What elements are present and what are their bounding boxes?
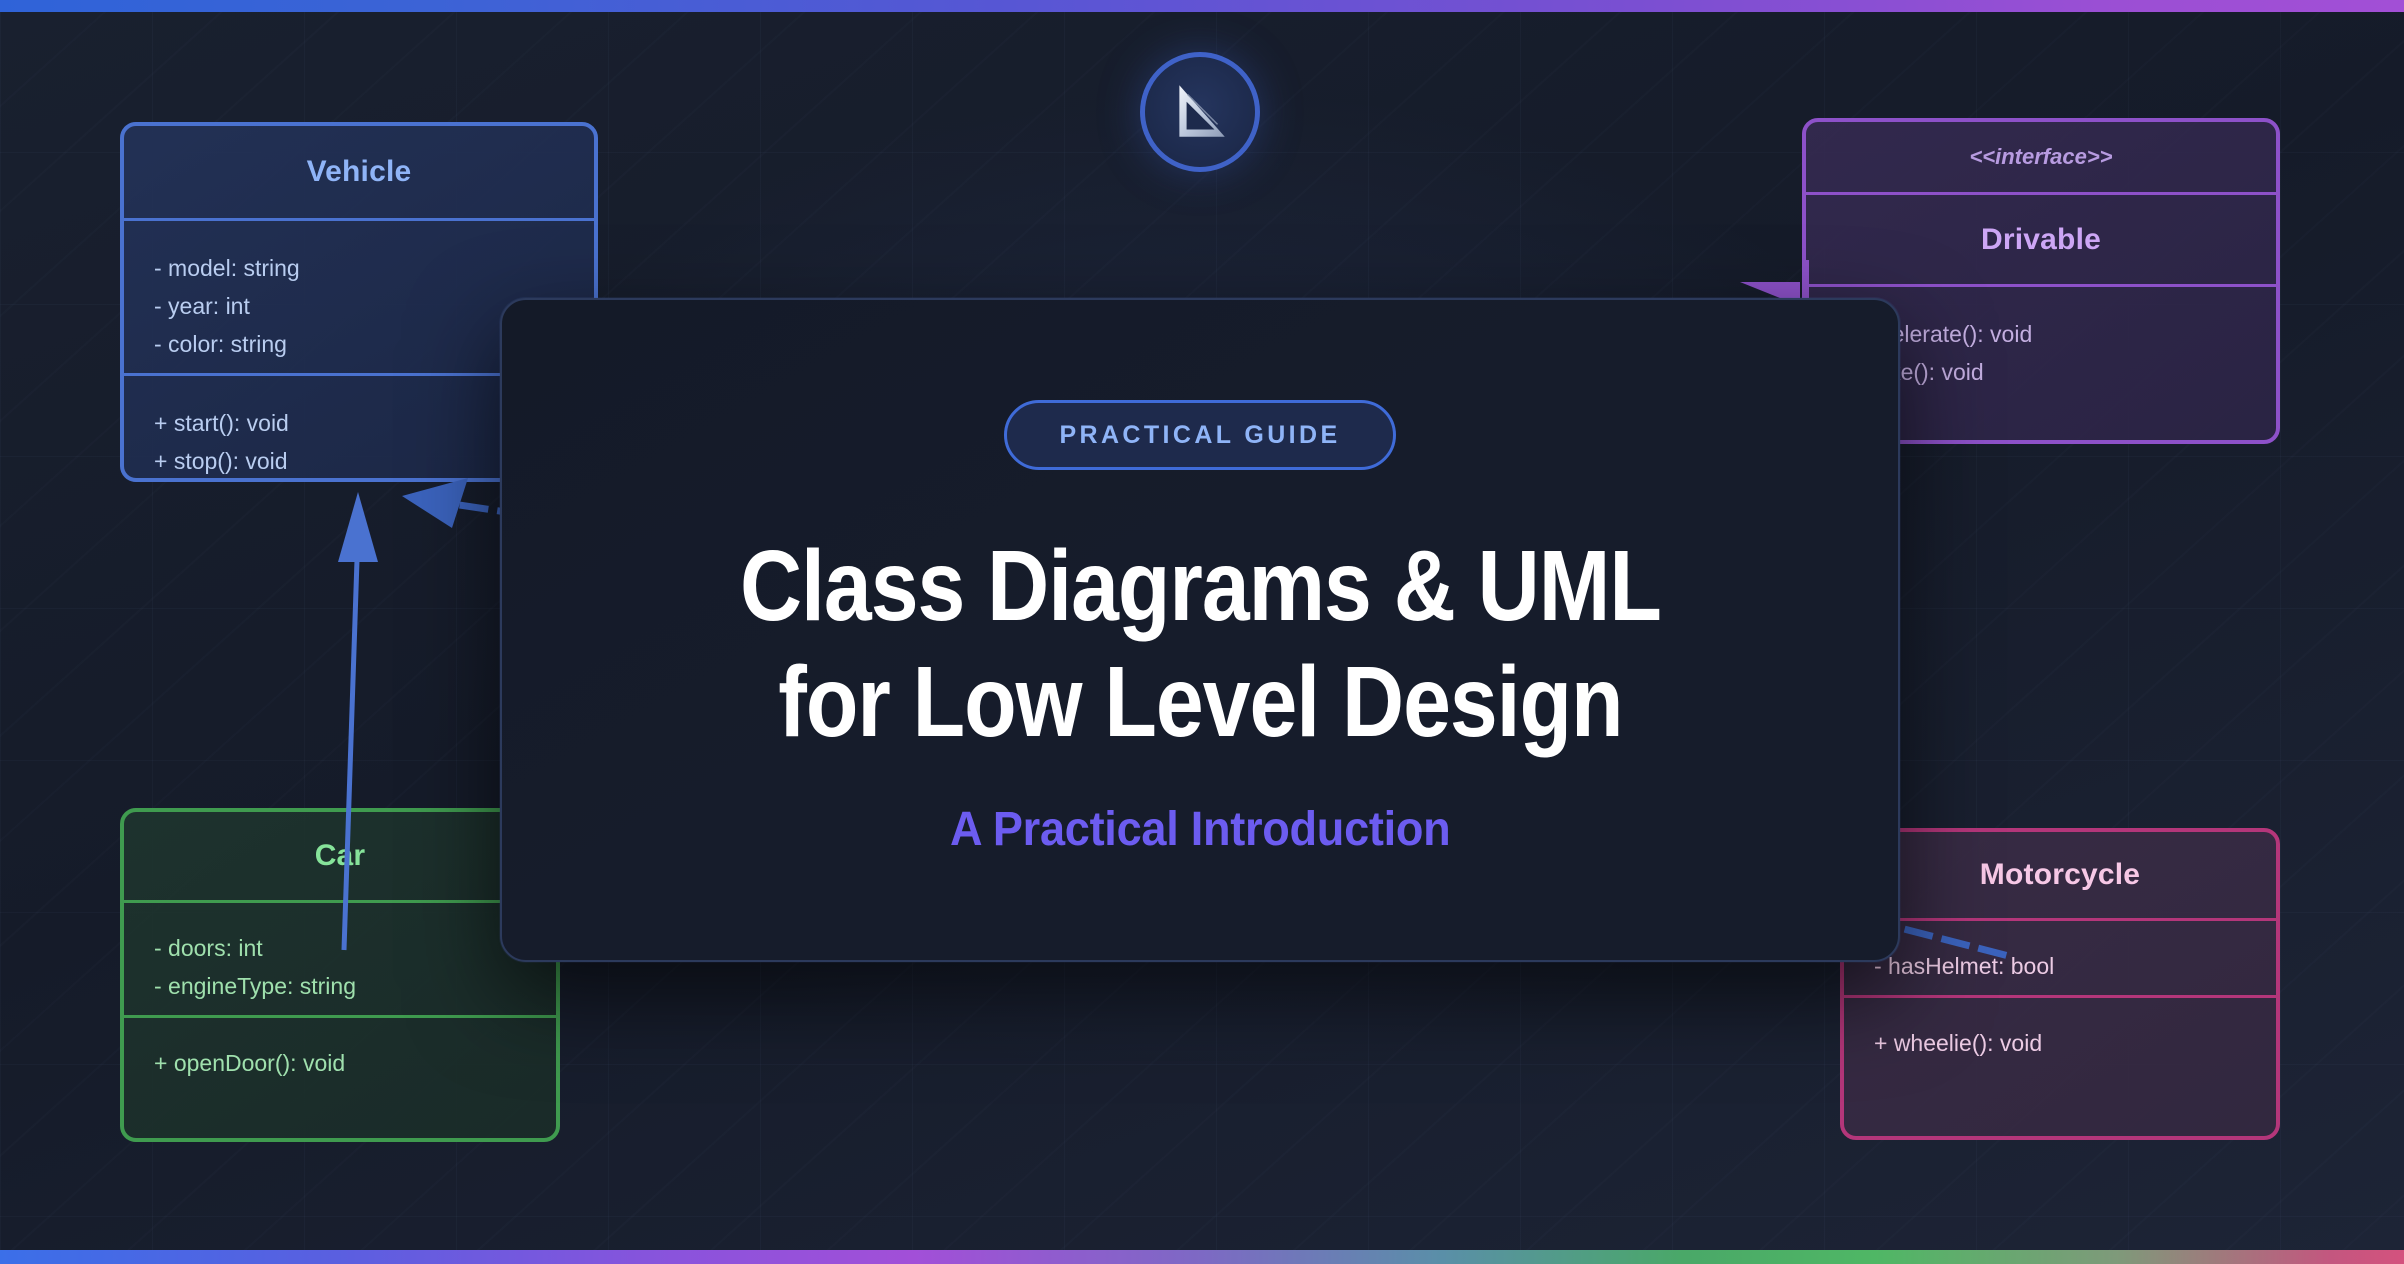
diagram-canvas: Vehicle - model: string - year: int - co… [0,0,2404,1264]
uml-class-header: Car [124,812,556,900]
uml-stereotype: <<interface>> [1969,144,2112,170]
uml-class-header: Vehicle [124,126,594,218]
app-logo [1140,52,1260,172]
bottom-accent-bar [0,1250,2404,1264]
uml-attributes-section: - hasHelmet: bool [1844,918,2276,995]
uml-class-header: Motorcycle [1844,832,2276,918]
uml-attribute: - doors: int [154,929,526,967]
uml-attributes-section: - doors: int - engineType: string [124,900,556,1015]
hero-badge: PRACTICAL GUIDE [1004,400,1395,470]
uml-class-name: Motorcycle [1980,858,2140,892]
uml-class-name: Drivable [1981,223,2101,257]
uml-attribute: - model: string [154,249,564,287]
uml-methods-section: + wheelie(): void [1844,995,2276,1072]
page-title: Class Diagrams & UML for Low Level Desig… [740,528,1661,760]
arrowhead-inheritance-vehicle [338,492,378,562]
uml-stereotype-header: <<interface>> [1806,122,2276,192]
top-accent-bar [0,0,2404,12]
uml-attribute: - hasHelmet: bool [1874,947,2246,985]
uml-class-motorcycle[interactable]: Motorcycle - hasHelmet: bool + wheelie()… [1840,828,2280,1140]
hero-overlay-card: PRACTICAL GUIDE Class Diagrams & UML for… [500,298,1900,962]
uml-class-name: Vehicle [307,155,412,189]
uml-class-car[interactable]: Car - doors: int - engineType: string + … [120,808,560,1142]
page-subtitle: A Practical Introduction [950,802,1450,857]
uml-method: + openDoor(): void [154,1044,526,1082]
uml-class-name-section: Drivable [1806,192,2276,284]
uml-methods-section: + openDoor(): void [124,1015,556,1092]
uml-attribute: - engineType: string [154,967,526,1005]
uml-class-name: Car [315,839,366,873]
uml-method: + wheelie(): void [1874,1024,2246,1062]
set-square-ruler-icon [1167,79,1233,145]
